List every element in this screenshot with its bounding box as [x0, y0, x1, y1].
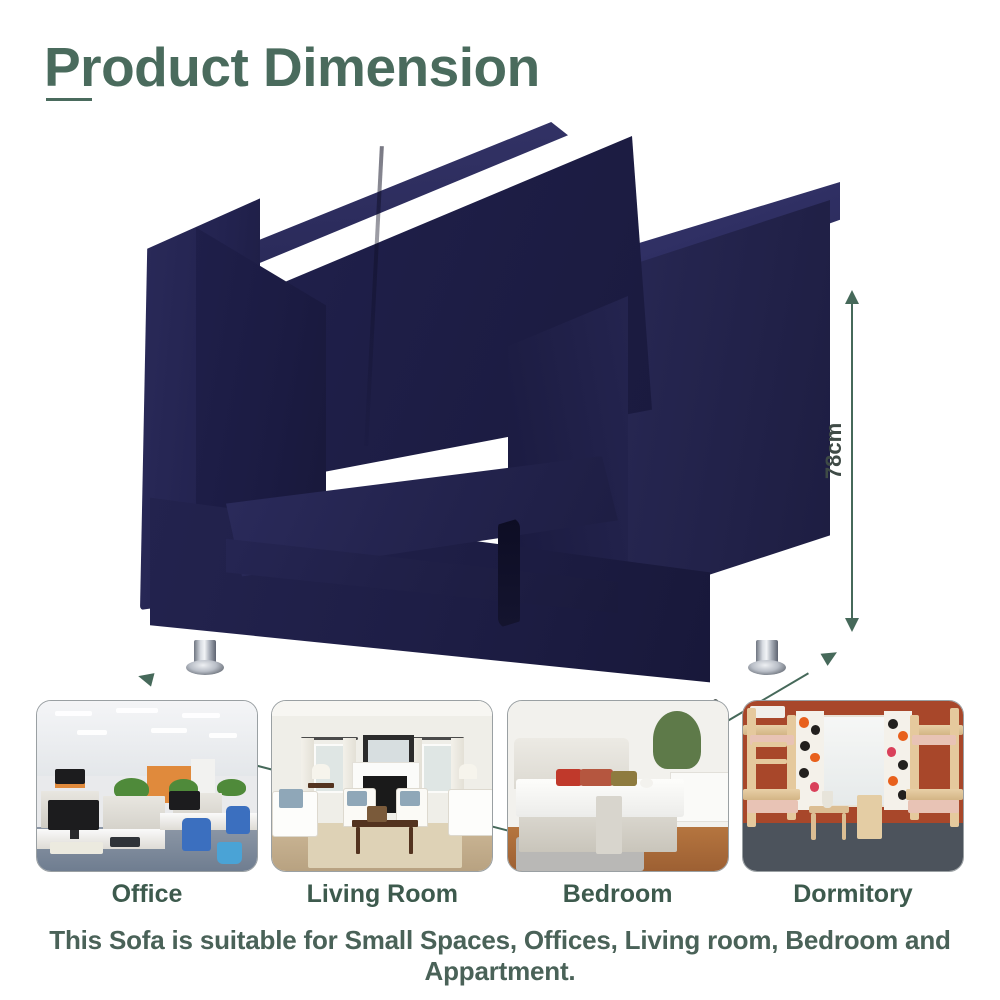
ceiling-light	[116, 708, 158, 713]
bunk-ladder-rung	[752, 759, 787, 764]
scenario-card-bedroom[interactable]: Bedroom	[507, 700, 729, 920]
ceiling-light	[182, 713, 219, 718]
dorm-table-leg	[811, 813, 815, 840]
leg-base-disc	[748, 660, 786, 675]
bunk-bedding	[912, 735, 956, 745]
scenario-card-row: Office	[0, 700, 1000, 920]
product-dimension-infographic: Product Dimension 78cm	[0, 0, 1000, 1000]
curtain-dot	[799, 768, 809, 778]
curtain-dot	[800, 741, 810, 751]
curtain-dot	[810, 782, 820, 792]
ceiling-light	[209, 733, 238, 738]
height-arrow-up-icon	[845, 290, 859, 304]
page-title: Product Dimension	[44, 36, 744, 98]
scenario-label-bedroom: Bedroom	[563, 879, 673, 909]
dormitory-floor	[743, 823, 963, 871]
height-arrow-down-icon	[845, 618, 859, 632]
ceiling-light	[151, 728, 186, 733]
living-room-photo	[271, 700, 493, 872]
nightstand-object	[640, 778, 653, 788]
dormitory-photo	[742, 700, 964, 872]
bed-throw	[596, 796, 622, 854]
dorm-table-leg	[842, 813, 846, 840]
office-monitor	[55, 769, 86, 784]
height-dimension-label: 78cm	[821, 423, 847, 479]
house-plant	[653, 711, 701, 769]
dorm-chair	[857, 795, 881, 839]
curtain-dot	[898, 760, 908, 770]
office-bin	[217, 842, 241, 864]
scenario-card-dormitory[interactable]: Dormitory	[742, 700, 964, 920]
pillow-gold	[611, 771, 637, 786]
side-table	[308, 783, 334, 788]
bedroom-scene	[508, 701, 728, 871]
table-vase	[822, 791, 833, 808]
monitor-stand	[70, 830, 79, 839]
curtain-dot	[898, 731, 908, 741]
footer-caption: This Sofa is suitable for Small Spaces, …	[0, 925, 1000, 987]
mouse-pad	[110, 837, 141, 847]
coffee-table-leg	[409, 827, 413, 854]
curtain-left	[796, 711, 825, 810]
bunk-bedding	[908, 800, 959, 814]
coffee-table-leg	[356, 827, 360, 854]
scenario-label-dormitory: Dormitory	[793, 879, 912, 909]
pillow-red	[556, 769, 582, 786]
throw-pillow	[400, 791, 420, 806]
office-chair	[182, 818, 211, 850]
living-room-ceiling	[272, 701, 492, 716]
curtain-dot	[888, 719, 898, 729]
sofa-seat-arm-gap	[498, 518, 520, 628]
curtain-dot	[887, 747, 897, 757]
scenario-card-living-room[interactable]: Living Room	[271, 700, 493, 920]
table-lamp	[312, 764, 330, 779]
curtain-dot	[888, 776, 898, 786]
office-scene	[37, 701, 257, 871]
ceiling-light	[55, 711, 92, 716]
bunk-bed-left-bottom	[743, 789, 800, 799]
scenario-label-living-room: Living Room	[307, 879, 458, 909]
dormitory-scene	[743, 701, 963, 871]
height-dimension-line	[851, 300, 853, 624]
leg-base-disc	[186, 660, 224, 675]
throw-pillow	[279, 789, 303, 808]
office-monitor	[48, 800, 99, 831]
throw-pillow	[347, 791, 367, 806]
bunk-bed-right-bottom	[906, 789, 963, 799]
product-illustration: 78cm 92cm 72cm	[0, 100, 1000, 700]
area-rug	[308, 823, 462, 867]
bedroom-photo	[507, 700, 729, 872]
office-chair	[226, 806, 250, 833]
scenario-label-office: Office	[112, 879, 183, 909]
bunk-ladder-rung	[752, 742, 787, 747]
width-arrow-left-icon	[136, 669, 154, 686]
bunk-bedding	[747, 800, 798, 814]
scenario-card-office[interactable]: Office	[36, 700, 258, 920]
office-keyboard	[50, 842, 103, 854]
living-room-scene	[272, 701, 492, 871]
curtain-dot	[799, 717, 809, 728]
depth-arrow-right-icon	[820, 646, 840, 666]
curtain-dot	[810, 753, 820, 763]
curtain-dot	[811, 725, 821, 735]
pillow-patterned	[580, 769, 613, 786]
office-photo	[36, 700, 258, 872]
ceiling-light	[77, 730, 108, 735]
table-lamp	[459, 764, 477, 779]
tabletop-box	[367, 806, 387, 821]
sofa-right	[448, 789, 493, 835]
office-monitor	[169, 791, 200, 810]
